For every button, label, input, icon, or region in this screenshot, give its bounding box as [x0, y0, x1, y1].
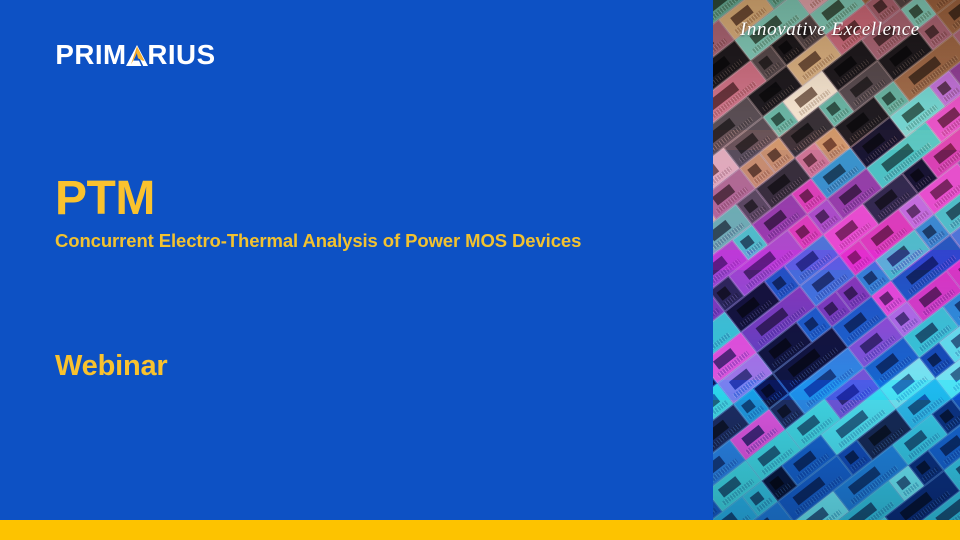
page-title: PTM [55, 174, 581, 224]
logo-text-before-a: PRIM [55, 41, 126, 69]
title-block: PTM Concurrent Electro-Thermal Analysis … [55, 174, 581, 252]
wafer-die-image [713, 0, 960, 520]
logo-text-after-a: RIUS [147, 41, 215, 69]
bottom-accent-bar [0, 520, 960, 540]
primarius-logo: PRIM RIUS [55, 40, 216, 70]
presentation-slide: PRIM RIUS PTM Concurrent Electro-Thermal… [0, 0, 960, 540]
event-type-label: Webinar [55, 350, 167, 383]
tagline-text: Innovative Excellence [740, 19, 920, 41]
page-subtitle: Concurrent Electro-Thermal Analysis of P… [55, 230, 581, 252]
die-mosaic-layer [713, 0, 960, 520]
triangle-a-icon [126, 45, 148, 66]
